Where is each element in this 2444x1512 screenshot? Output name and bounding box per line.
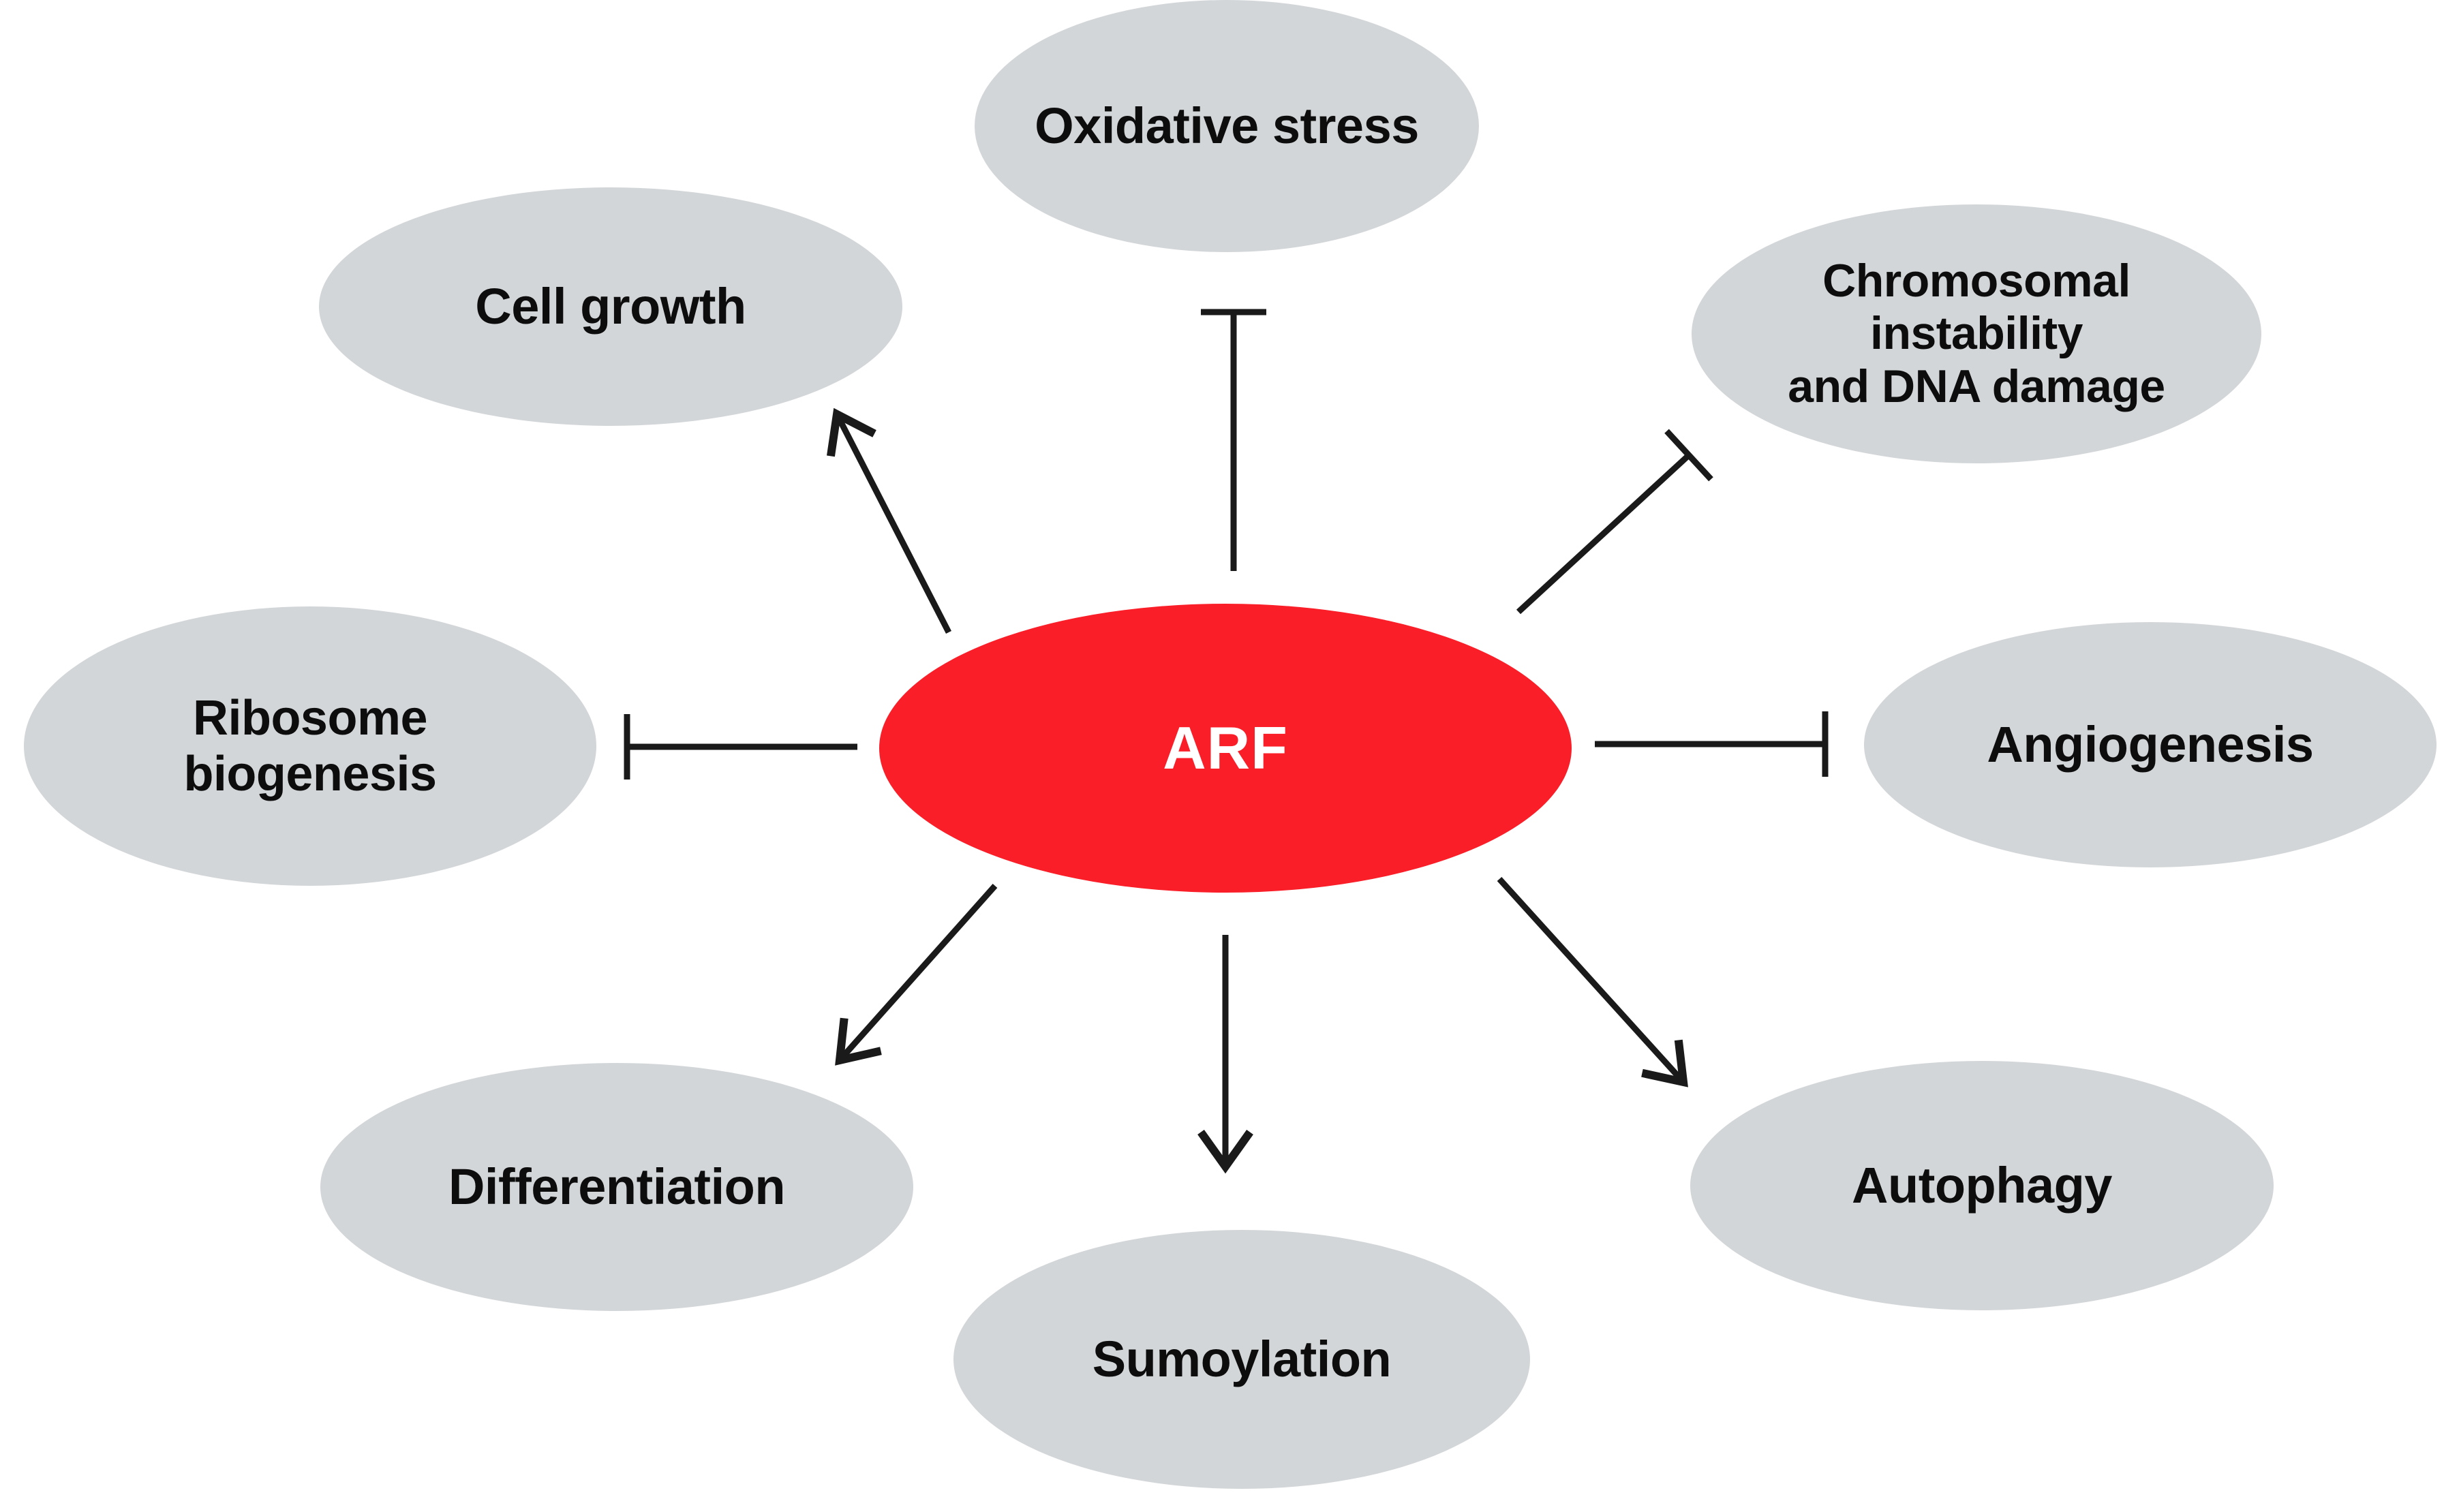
node-label-angiogenesis: Angiogenesis [1983, 716, 2317, 773]
node-label-oxidative-stress: Oxidative stress [1030, 97, 1423, 155]
connector-arf-activates-cell-growth [831, 414, 949, 632]
connector-shaft [840, 886, 995, 1060]
node-label-differentiation: Differentiation [444, 1158, 789, 1216]
connector-shaft [837, 414, 949, 632]
node-autophagy[interactable]: Autophagy [1690, 1061, 2274, 1310]
connector-arf-inhibits-angiogenesis [1595, 711, 1825, 777]
node-label-cell-growth: Cell growth [471, 278, 750, 335]
connector-arf-inhibits-oxidative-stress [1201, 312, 1266, 571]
hub-node-label: ARF [1159, 714, 1292, 782]
connector-arf-activates-differentiation [840, 886, 995, 1060]
connector-arf-inhibits-chromosomal-instability [1518, 431, 1711, 612]
connector-arf-activates-sumoylation [1201, 935, 1250, 1167]
connector-arf-inhibits-ribosome-biogenesis [627, 714, 857, 780]
node-label-chromosomal-instability-and-dna-damage: Chromosomalinstabilityand DNA damage [1784, 255, 2169, 414]
node-label-autophagy: Autophagy [1848, 1157, 2116, 1214]
node-label-sumoylation: Sumoylation [1088, 1331, 1396, 1388]
node-ribosome-biogenesis[interactable]: Ribosomebiogenesis [24, 606, 596, 886]
node-sumoylation[interactable]: Sumoylation [953, 1230, 1530, 1489]
node-differentiation[interactable]: Differentiation [320, 1063, 913, 1311]
node-oxidative-stress[interactable]: Oxidative stress [975, 0, 1479, 252]
node-label-ribosome-biogenesis: Ribosomebiogenesis [179, 690, 440, 802]
connector-arf-activates-autophagy [1499, 879, 1683, 1082]
node-chromosomal-instability-and-dna-damage[interactable]: Chromosomalinstabilityand DNA damage [1692, 204, 2261, 463]
connector-shaft [1499, 879, 1683, 1082]
connector-shaft [1518, 455, 1689, 612]
node-angiogenesis[interactable]: Angiogenesis [1864, 622, 2437, 867]
arf-function-diagram: Oxidative stressCell growthChromosomalin… [0, 0, 2444, 1512]
node-cell-growth[interactable]: Cell growth [319, 187, 902, 426]
hub-node-arf[interactable]: ARF [879, 604, 1572, 893]
